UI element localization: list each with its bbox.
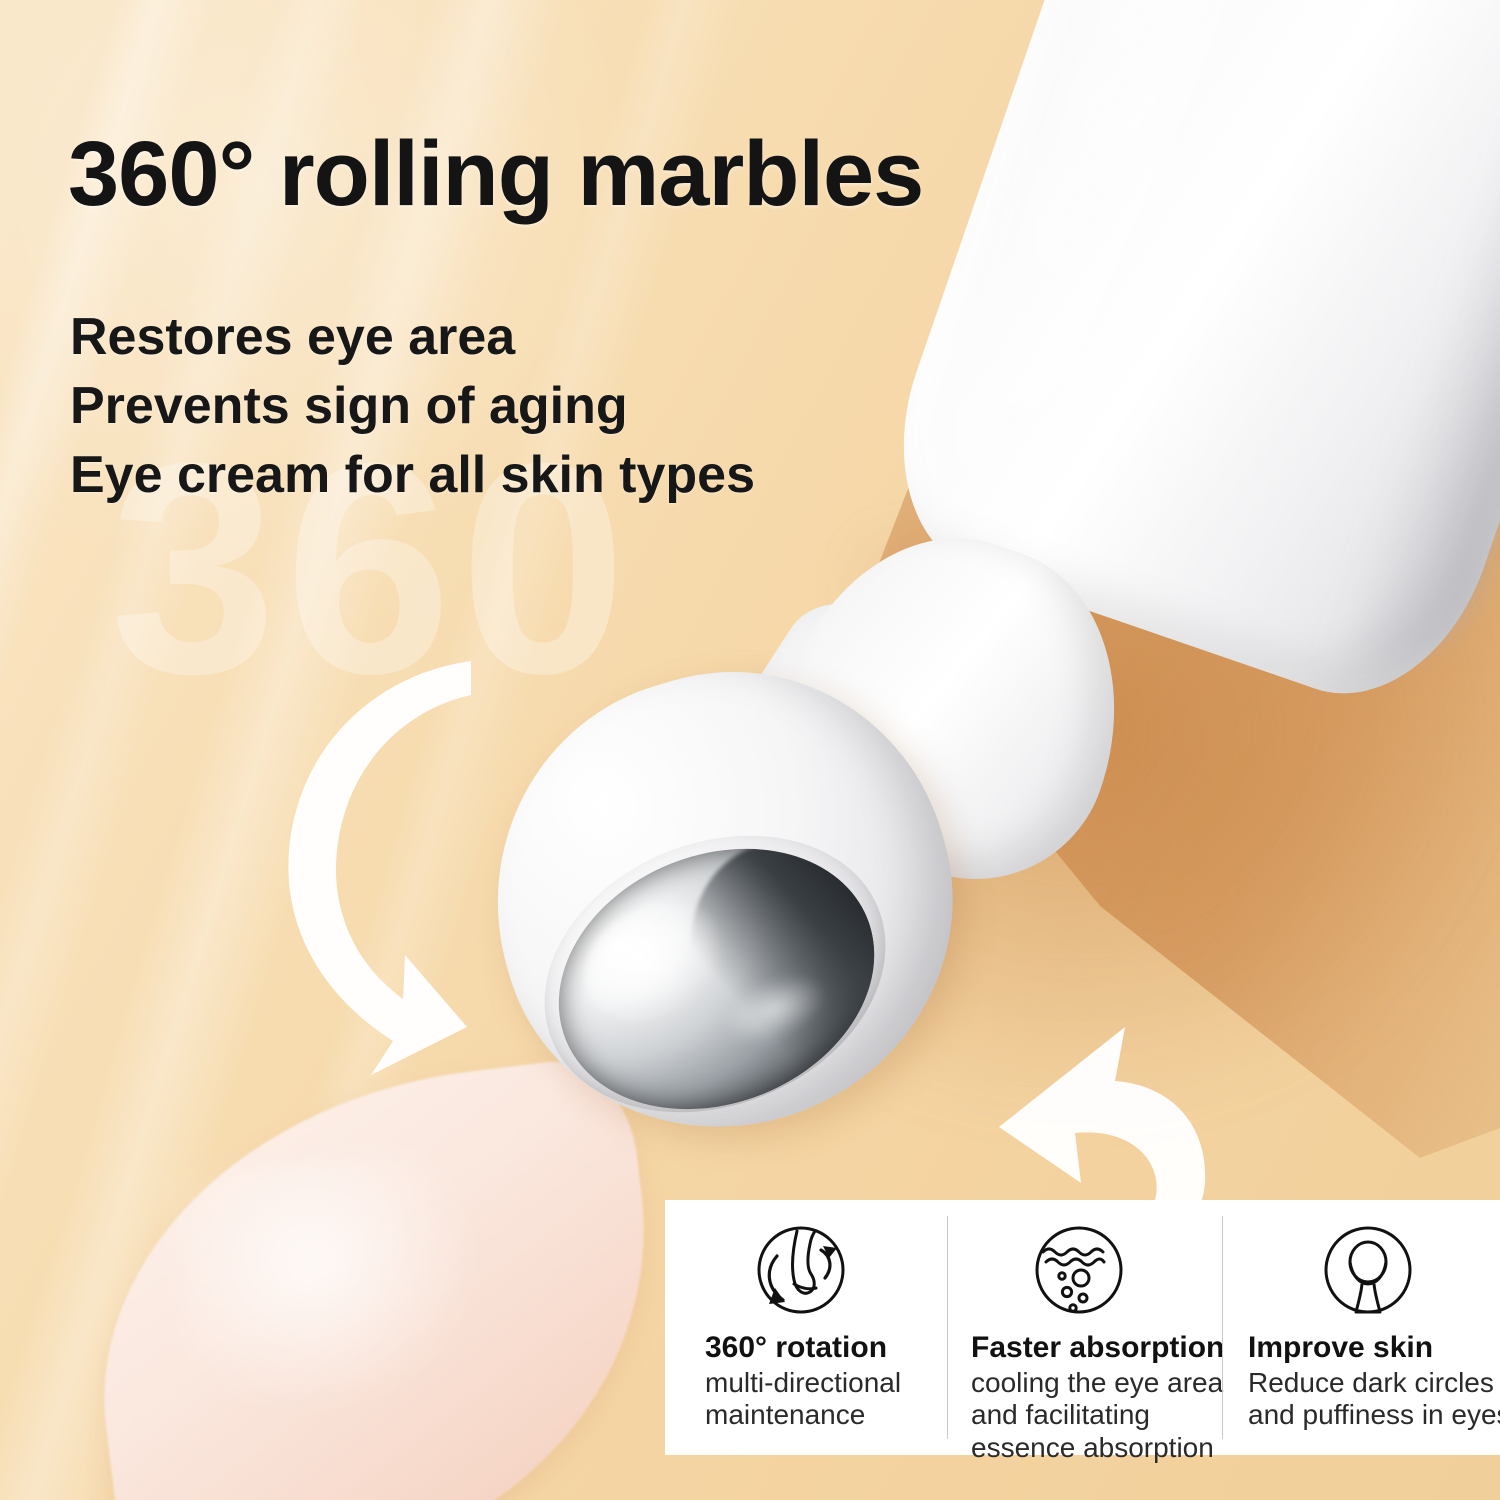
feature-desc-rotation: multi-directional maintenance xyxy=(705,1367,901,1432)
feature-desc-line: cooling the eye area xyxy=(971,1367,1223,1399)
feature-title-skin: Improve skin xyxy=(1248,1331,1433,1365)
benefit-item-1: Restores eye area xyxy=(70,303,755,372)
feature-card-rotation: 360° rotation multi-directional maintena… xyxy=(665,1200,947,1455)
page-title: 360° rolling marbles xyxy=(68,128,923,220)
rotation-roller-icon xyxy=(753,1222,849,1323)
feature-desc-line: Reduce dark circles xyxy=(1248,1367,1500,1399)
feature-card-skin: Improve skin Reduce dark circles and puf… xyxy=(1222,1200,1500,1455)
benefit-item-2: Prevents sign of aging xyxy=(70,372,755,441)
feature-desc-line: essence absorption xyxy=(971,1432,1223,1464)
feature-desc-absorption: cooling the eye area and facilitating es… xyxy=(971,1367,1223,1464)
benefit-list: Restores eye area Prevents sign of aging… xyxy=(70,303,755,510)
feature-panel: 360° rotation multi-directional maintena… xyxy=(665,1200,1500,1455)
feature-card-absorption: Faster absorption cooling the eye area a… xyxy=(947,1200,1222,1455)
feature-desc-line: and facilitating xyxy=(971,1399,1223,1431)
benefit-item-3: Eye cream for all skin types xyxy=(70,441,755,510)
feature-desc-line: multi-directional xyxy=(705,1367,901,1399)
feature-title-absorption: Faster absorption xyxy=(971,1331,1224,1365)
feature-title-rotation: 360° rotation xyxy=(705,1331,887,1365)
cream-smear-highlight xyxy=(166,1143,494,1428)
applicator-head xyxy=(497,675,952,1125)
feature-desc-line: maintenance xyxy=(705,1399,901,1431)
product-marketing-image: 360 360° rolling marbles Resto xyxy=(0,0,1500,1500)
water-bubbles-absorption-icon xyxy=(1031,1222,1127,1323)
roller-ball-skin-icon xyxy=(1320,1222,1416,1323)
feature-desc-line: and puffiness in eyes xyxy=(1248,1399,1500,1431)
feature-desc-skin: Reduce dark circles and puffiness in eye… xyxy=(1248,1367,1500,1432)
